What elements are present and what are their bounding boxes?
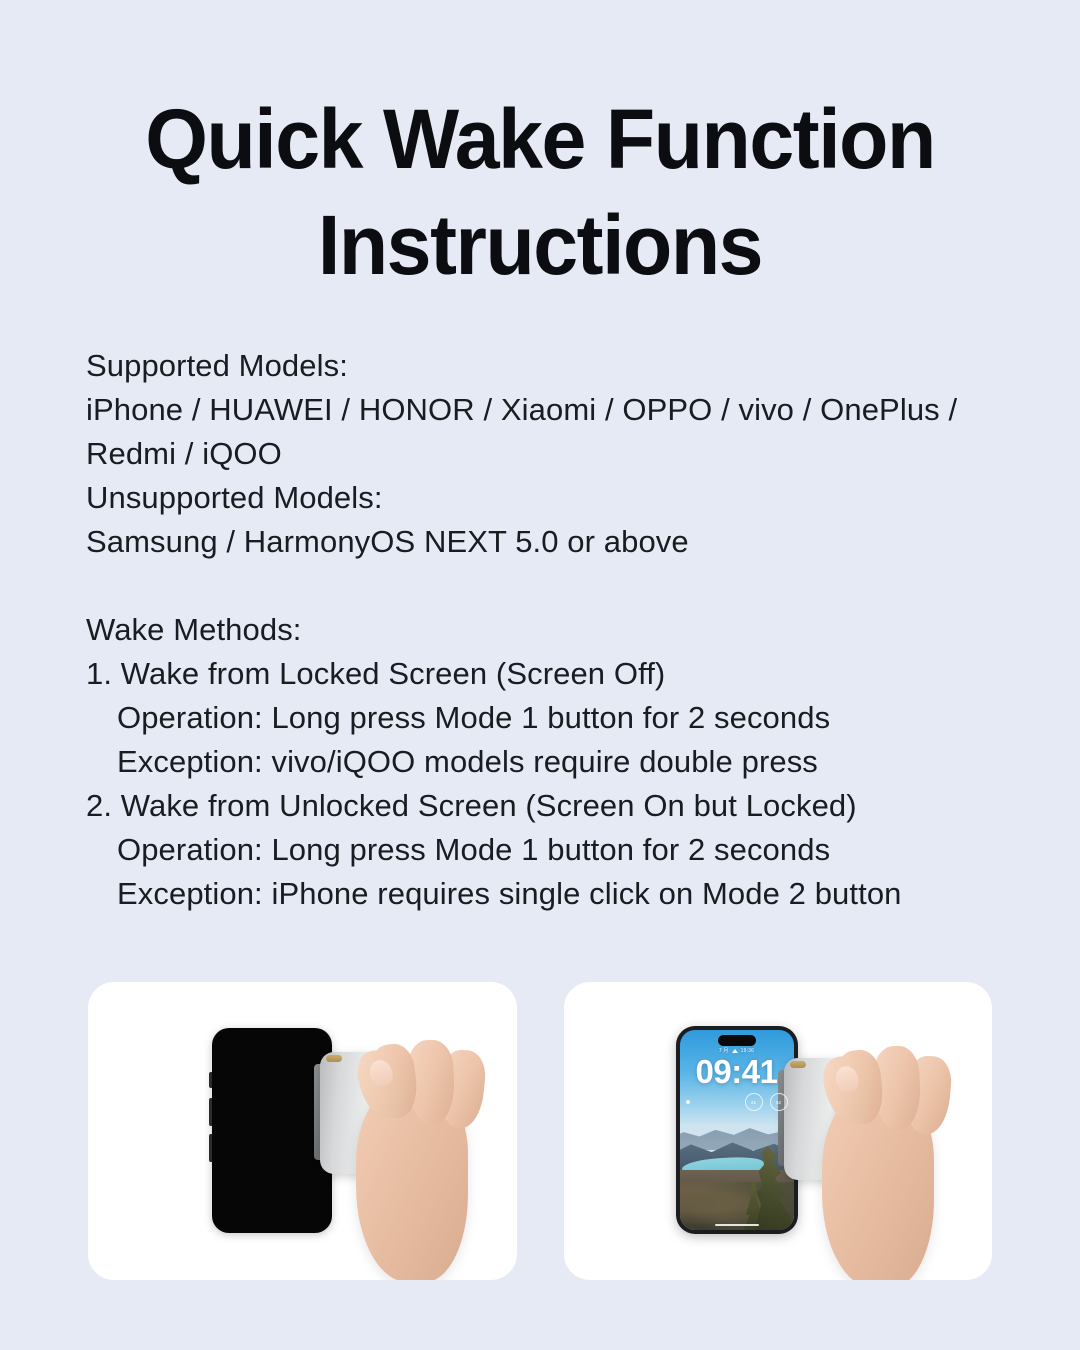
body-line-unsupported-models: Samsung / HarmonyOS NEXT 5.0 or above <box>86 520 1020 564</box>
lockscreen-ring-widgets: 21 52 <box>745 1093 788 1111</box>
illustration-card-screen-off <box>88 982 517 1280</box>
page-title: Quick Wake Function Instructions <box>0 0 1080 298</box>
body-line-supported-models-1: iPhone / HUAWEI / HONOR / Xiaomi / OPPO … <box>86 388 1020 432</box>
body-spacer <box>86 564 1020 608</box>
body-line-method-1: 1. Wake from Locked Screen (Screen Off) <box>86 652 1020 696</box>
home-indicator <box>715 1224 759 1227</box>
lockscreen-text-widget[interactable] <box>686 1093 738 1111</box>
widget-bullet-icon <box>686 1100 690 1104</box>
location-arrow-icon <box>732 1049 738 1053</box>
body-line-supported-models-2: Redmi / iQOO <box>86 432 1020 476</box>
body-line-wake-methods-heading: Wake Methods: <box>86 608 1020 652</box>
lockscreen-ring-widget-1[interactable]: 21 <box>745 1093 763 1111</box>
dynamic-island <box>718 1035 756 1046</box>
body-line-method-2-operation: Operation: Long press Mode 1 button for … <box>86 828 1020 872</box>
body-line-method-2: 2. Wake from Unlocked Screen (Screen On … <box>86 784 1020 828</box>
page-title-line-1: Quick Wake Function <box>22 86 1059 192</box>
phone-volume-up-button <box>209 1098 212 1126</box>
lockscreen-clock: 09:41 <box>680 1054 794 1090</box>
hand-holding-device <box>334 1038 514 1280</box>
body-line-method-1-operation: Operation: Long press Mode 1 button for … <box>86 696 1020 740</box>
body-line-unsupported-heading: Unsupported Models: <box>86 476 1020 520</box>
photo-scene-screen-off <box>88 982 517 1280</box>
phone-volume-down-button <box>209 1134 212 1162</box>
lockscreen-widget-row: 21 52 <box>686 1093 788 1111</box>
illustration-card-row: 7 月 19:36 09:41 21 <box>88 982 992 1280</box>
lockscreen-ring-widget-2[interactable]: 52 <box>770 1093 788 1111</box>
instructions-body: Supported Models: iPhone / HUAWEI / HONO… <box>0 344 1080 916</box>
phone-screen: 7 月 19:36 09:41 21 <box>680 1030 794 1230</box>
illustration-card-lock-screen: 7 月 19:36 09:41 21 <box>564 982 993 1280</box>
body-line-method-1-exception: Exception: vivo/iQOO models require doub… <box>86 740 1020 784</box>
hand-holding-device <box>800 1044 980 1280</box>
page-title-line-2: Instructions <box>22 192 1059 298</box>
photo-scene-lock-screen: 7 月 19:36 09:41 21 <box>564 982 993 1280</box>
body-line-method-2-exception: Exception: iPhone requires single click … <box>86 872 1020 916</box>
phone-mute-switch-icon <box>209 1072 212 1088</box>
body-line-supported-heading: Supported Models: <box>86 344 1020 388</box>
page-root: { "page": { "background_color": "#e5eaf4… <box>0 0 1080 1350</box>
